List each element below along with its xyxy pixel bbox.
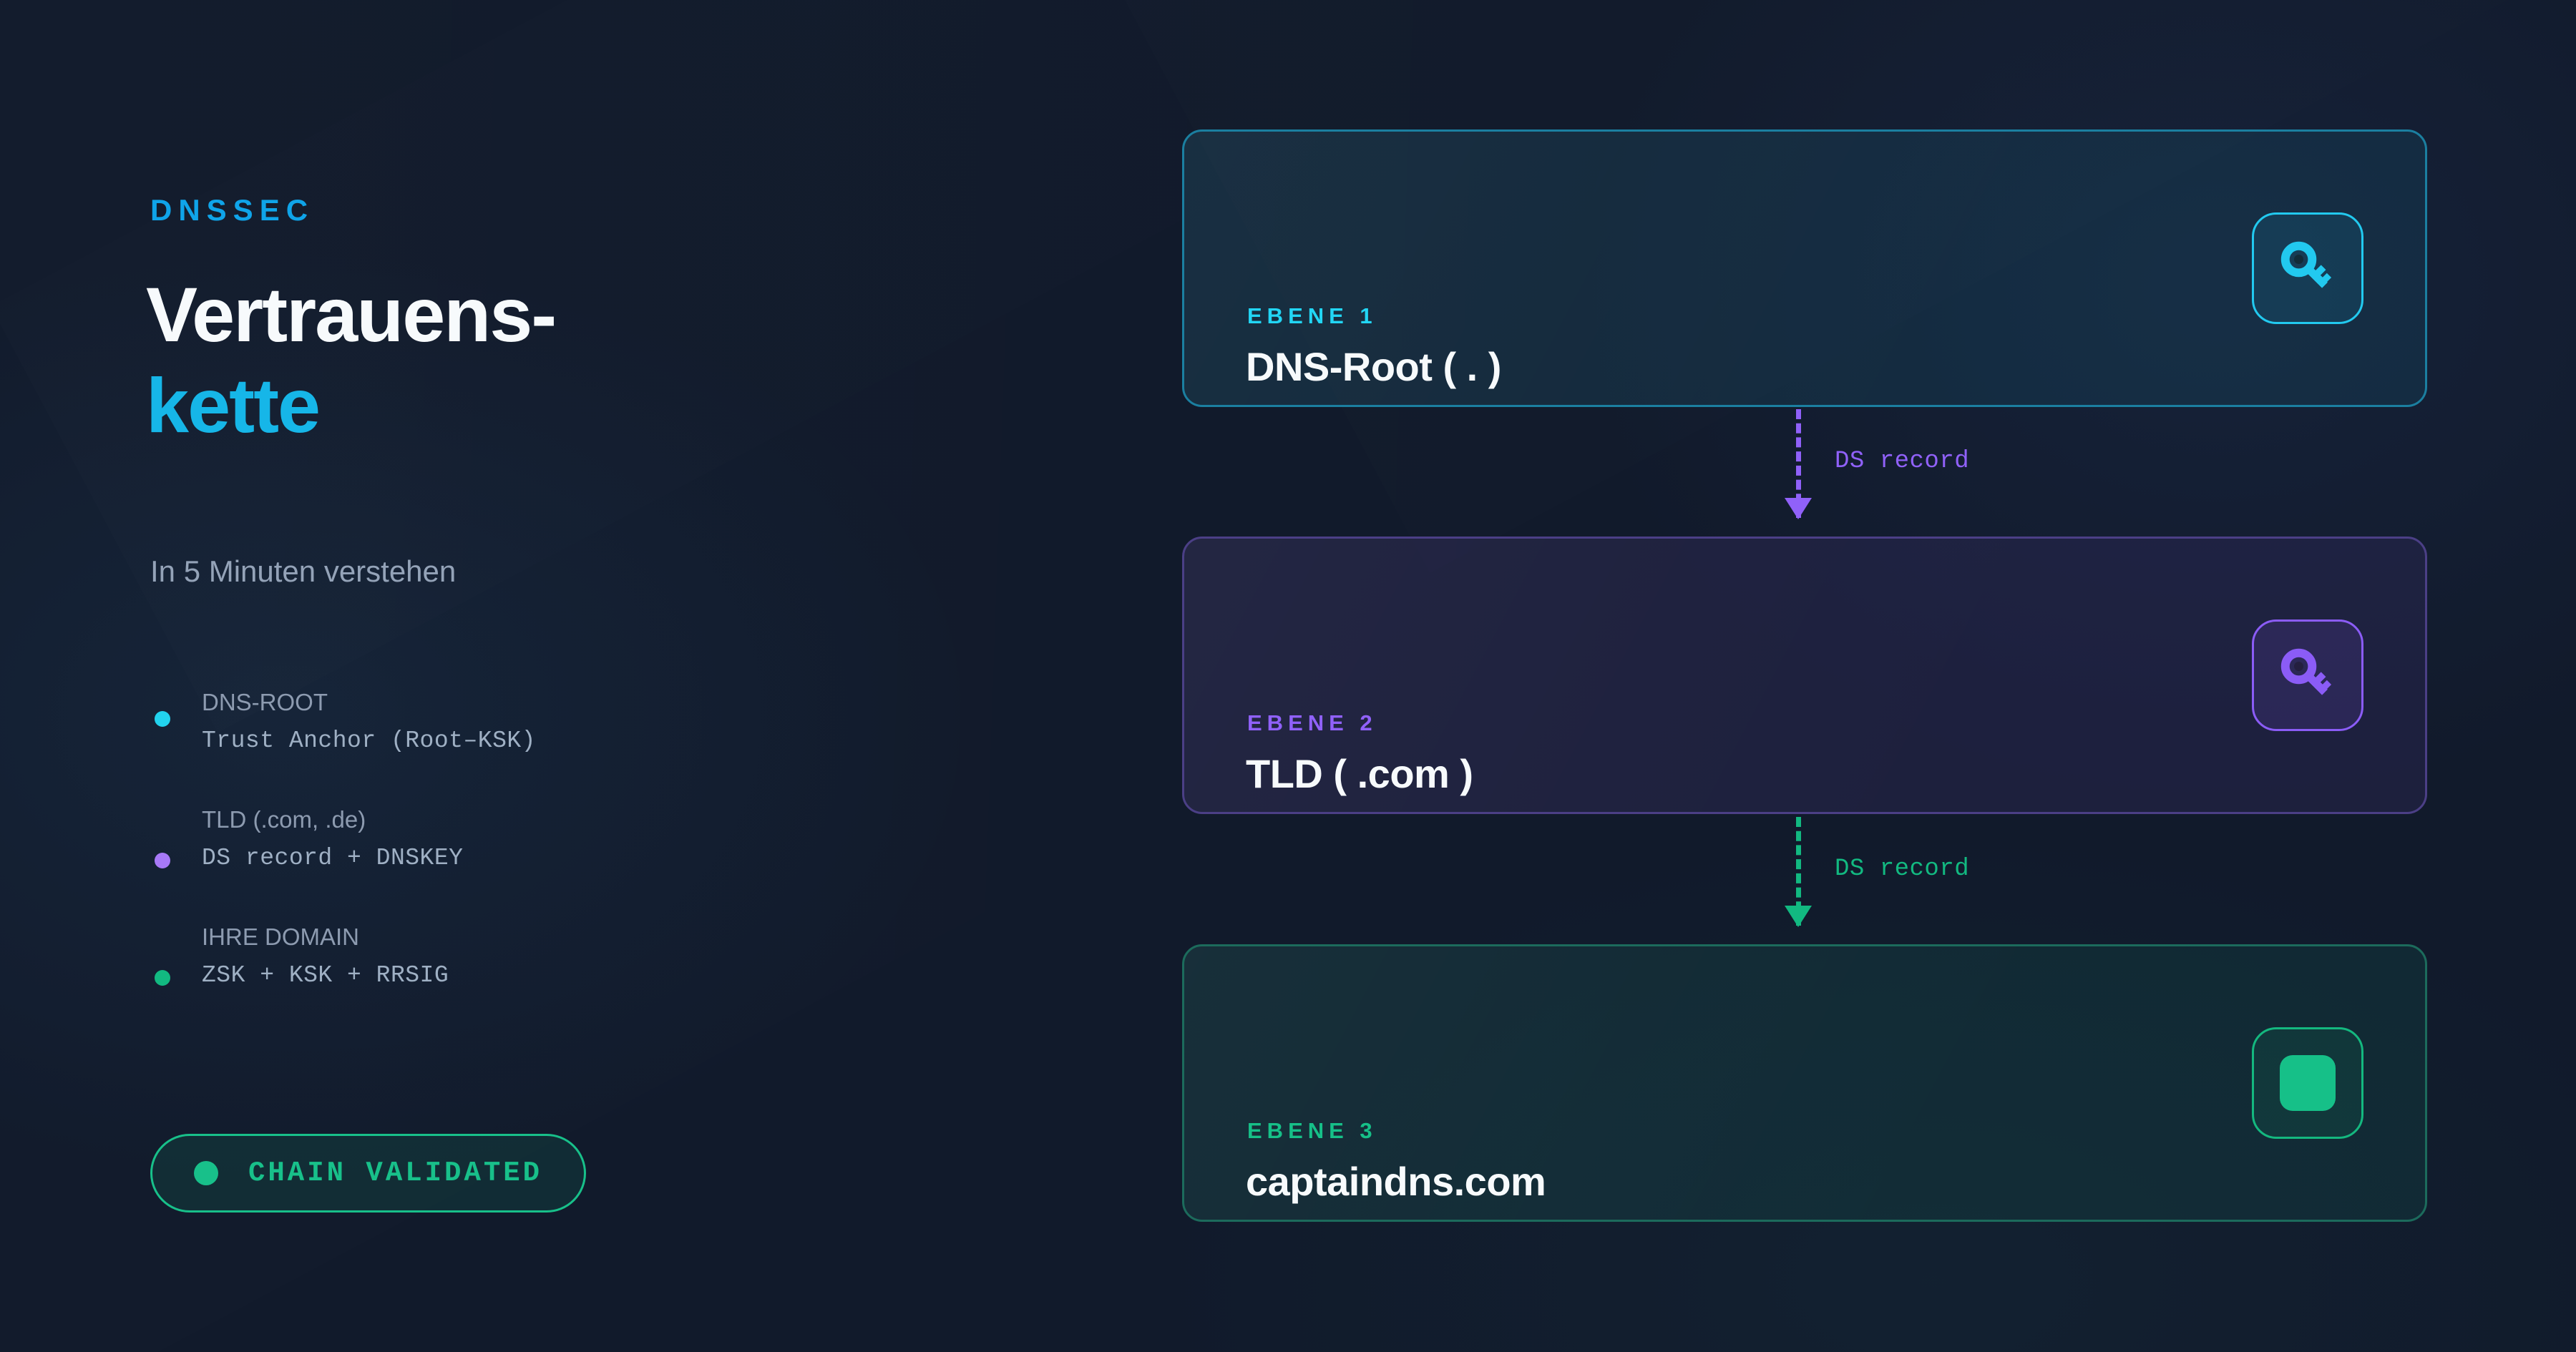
list-item: DNS-ROOT Trust Anchor (Root–KSK): [150, 687, 937, 758]
intro-panel: DNSSEC Vertrauens- kette In 5 Minuten ve…: [150, 0, 1080, 1352]
status-badge: CHAIN VALIDATED: [150, 1134, 586, 1213]
bullet-dot-cyan: [155, 711, 170, 727]
list-item: TLD (.com, .de) DS record + DNSKEY: [150, 804, 937, 876]
status-badge-label: CHAIN VALIDATED: [248, 1157, 542, 1189]
list-item-label: TLD (.com, .de): [202, 804, 937, 836]
key-icon: [2252, 212, 2363, 324]
status-dot-icon: [194, 1161, 218, 1185]
card-title: DNS-Root ( . ): [1246, 343, 1501, 390]
bullet-dot-purple: [155, 853, 170, 868]
bullet-dot-green: [155, 970, 170, 986]
connector-label: DS record: [1835, 856, 1969, 883]
lock-block-icon: [2252, 1027, 2363, 1139]
page-title: Vertrauens- kette: [146, 269, 555, 451]
key-icon: [2252, 619, 2363, 731]
list-item-detail: DS record + DNSKEY: [202, 841, 937, 876]
list-item-detail: Trust Anchor (Root–KSK): [202, 723, 937, 759]
card-level-label: EBENE 3: [1247, 1118, 1377, 1144]
page-title-line-1: Vertrauens-: [146, 271, 555, 358]
card-title: TLD ( .com ): [1246, 750, 1473, 797]
chain-diagram: EBENE 1 DNS-Root ( . ) Root–KSK = Vertra…: [1182, 0, 2427, 1352]
infographic-canvas: DNSSEC Vertrauens- kette In 5 Minuten ve…: [0, 0, 2576, 1352]
list-item: IHRE DOMAIN ZSK + KSK + RRSIG: [150, 921, 937, 993]
page-title-line-2: kette: [146, 360, 555, 451]
list-item-label: DNS-ROOT: [202, 687, 937, 719]
chain-summary-list: DNS-ROOT Trust Anchor (Root–KSK) TLD (.c…: [150, 687, 937, 993]
connector-level-2-to-3: DS record: [1796, 817, 2240, 926]
arrow-down-icon: [1785, 906, 1812, 927]
chain-card-level-2: EBENE 2 TLD ( .com ) KSK + ZSK des TLD S…: [1182, 537, 2427, 814]
arrow-down-icon: [1785, 498, 1812, 519]
card-level-label: EBENE 2: [1247, 710, 1377, 736]
lock-block-glyph: [2280, 1055, 2336, 1111]
eyebrow-label: DNSSEC: [150, 193, 314, 227]
list-item-detail: ZSK + KSK + RRSIG: [202, 958, 937, 994]
chain-card-level-3: EBENE 3 captaindns.com KSK + ZSK der Dom…: [1182, 944, 2427, 1222]
card-title: captaindns.com: [1246, 1158, 1546, 1205]
list-item-label: IHRE DOMAIN: [202, 921, 937, 954]
page-subtitle: In 5 Minuten verstehen: [150, 554, 456, 589]
connector-level-1-to-2: DS record: [1796, 409, 2240, 518]
card-level-label: EBENE 1: [1247, 303, 1377, 329]
connector-label: DS record: [1835, 448, 1969, 475]
chain-card-level-1: EBENE 1 DNS-Root ( . ) Root–KSK = Vertra…: [1182, 129, 2427, 407]
